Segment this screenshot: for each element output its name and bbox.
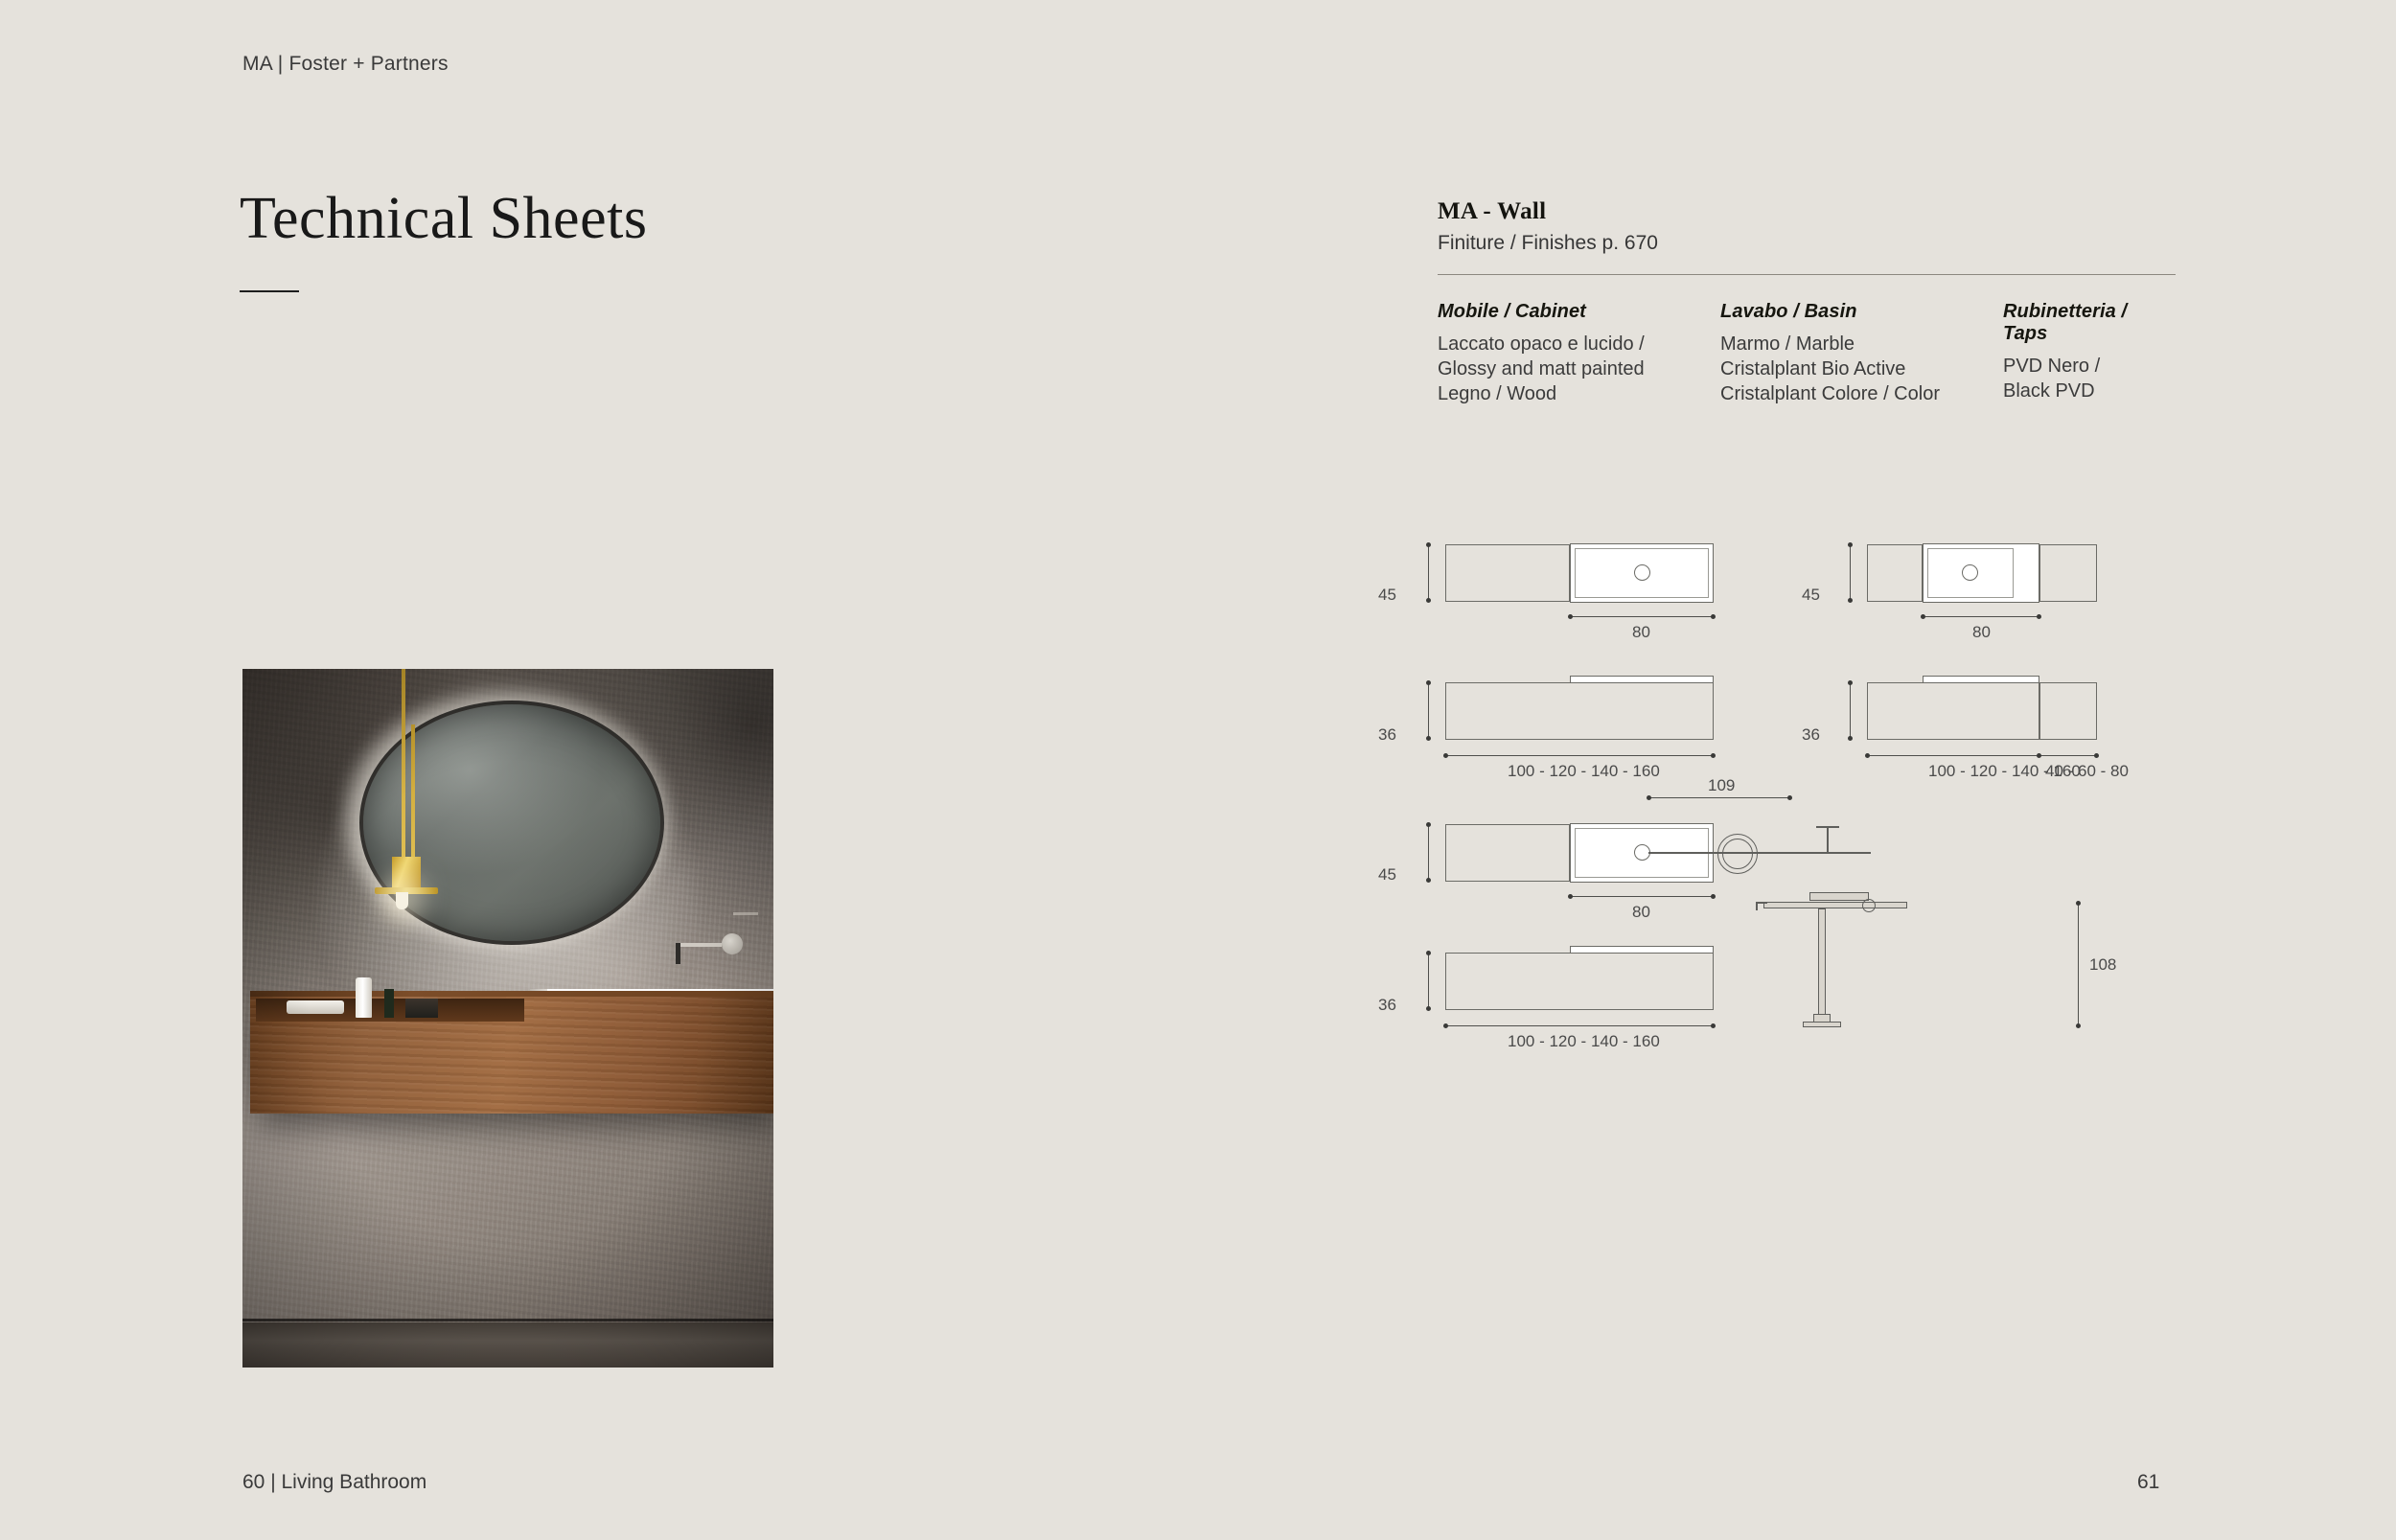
finish-line: Cristalplant Bio Active: [1720, 356, 2003, 381]
dimension-tick: [1426, 736, 1431, 741]
dimension-tick: [1865, 753, 1870, 758]
dimension-tick: [2037, 753, 2041, 758]
page-title: Technical Sheets: [240, 188, 647, 250]
dimension-tick: [1848, 542, 1853, 547]
dimension-depth: 45: [1378, 586, 1396, 605]
finish-heading: Lavabo / Basin: [1720, 301, 2003, 323]
dimension-line-vertical: [1428, 545, 1429, 601]
tap-spout-tip-drop: [1756, 902, 1758, 910]
dimension-line-tap-height: [2078, 904, 2079, 1026]
finish-line: PVD Nero /: [2003, 354, 2176, 379]
cabinet-top-body: [1445, 824, 1570, 882]
cabinet-top-left-module: [1867, 544, 1923, 602]
dimension-line-horizontal: [1570, 896, 1714, 897]
dimension-tick: [1921, 614, 1925, 619]
cabinet-front-main-module: [1867, 682, 2039, 740]
tap-vertical-column: [1818, 908, 1826, 1020]
dimension-line-horizontal: [1570, 616, 1714, 617]
dimension-height: 36: [1378, 725, 1396, 745]
technical-drawings: 45 80 45 80: [1380, 522, 2358, 1193]
dimension-width: 100 - 120 - 140 - 160: [1508, 762, 1660, 781]
dimension-tick: [1568, 614, 1573, 619]
title-block: Technical Sheets: [240, 188, 647, 292]
dimension-tick: [1568, 894, 1573, 899]
finish-heading: Rubinetteria / Taps: [2003, 301, 2176, 345]
dimension-line-vertical: [1428, 683, 1429, 739]
finish-line: Cristalplant Colore / Color: [1720, 381, 2003, 406]
dimension-line-vertical: [1428, 825, 1429, 881]
dimension-line-horizontal: [1445, 1025, 1714, 1026]
dimension-tick: [1426, 822, 1431, 827]
tap-handle-stem: [1827, 827, 1829, 853]
catalog-page: MA | Foster + Partners Technical Sheets: [0, 0, 2396, 1540]
finish-line: Black PVD: [2003, 379, 2176, 403]
dimension-tick: [1711, 894, 1716, 899]
tap-handle-arm: [1756, 852, 1871, 854]
product-photo: [242, 669, 773, 1368]
tap-top-plate: [1809, 892, 1869, 901]
dimension-tick: [1848, 598, 1853, 603]
dimension-tick: [1711, 753, 1716, 758]
dimension-depth: 45: [1802, 586, 1820, 605]
running-head: MA | Foster + Partners: [242, 53, 449, 76]
footer-right-page-number: 61: [2137, 1471, 2159, 1494]
dimension-line-vertical: [1428, 954, 1429, 1009]
finish-line: Laccato opaco e lucido /: [1438, 332, 1720, 356]
tap-column-inner-ring: [1722, 839, 1753, 869]
dimension-tick: [1426, 542, 1431, 547]
basin-drain-icon: [1962, 564, 1978, 581]
dimension-depth: 45: [1378, 865, 1396, 885]
title-rule: [240, 290, 299, 292]
dimension-line-vertical: [1850, 683, 1851, 739]
dimension-tap-reach: 109: [1708, 776, 1735, 795]
dimension-height: 36: [1802, 725, 1820, 745]
finishes-columns: Mobile / Cabinet Laccato opaco e lucido …: [1438, 301, 2176, 406]
dimension-tick: [1711, 1023, 1716, 1028]
dimension-tap-height: 108: [2089, 955, 2116, 975]
dimension-tick: [2076, 901, 2081, 906]
cabinet-top-body: [1445, 544, 1570, 602]
dimension-tick: [1426, 951, 1431, 955]
spec-divider: [1438, 274, 2176, 275]
dimension-tick: [1426, 598, 1431, 603]
dimension-tick: [1787, 795, 1792, 800]
dimension-tick: [1848, 680, 1853, 685]
footer-left: 60 | Living Bathroom: [242, 1471, 426, 1494]
dimension-tick: [1426, 680, 1431, 685]
tap-handle-knob-icon: [1862, 899, 1876, 912]
dimension-line-tap-reach: [1648, 797, 1790, 798]
dimension-width: 80: [1632, 903, 1650, 922]
dimension-line-horizontal: [1867, 755, 2097, 756]
finish-column-cabinet: Mobile / Cabinet Laccato opaco e lucido …: [1438, 301, 1720, 406]
dimension-tick: [2094, 753, 2099, 758]
dimension-tick: [1426, 1006, 1431, 1011]
dimension-tick: [1443, 1023, 1448, 1028]
dimension-width-side: 40 - 60 - 80: [2045, 762, 2129, 781]
basin-drain-icon: [1634, 564, 1650, 581]
dimension-width: 100 - 120 - 140 - 160: [1508, 1032, 1660, 1051]
dimension-tick: [2076, 1023, 2081, 1028]
tap-floor-plate: [1803, 1022, 1841, 1027]
dimension-line-horizontal: [1445, 755, 1714, 756]
dimension-tick: [1848, 736, 1853, 741]
dimension-tick: [1711, 614, 1716, 619]
tap-handle-top: [1816, 826, 1839, 828]
cabinet-front-side-module: [2039, 682, 2097, 740]
tap-spout-horizontal-arm: [1763, 902, 1907, 908]
finish-column-basin: Lavabo / Basin Marmo / Marble Cristalpla…: [1720, 301, 2003, 406]
dimension-width: 80: [1972, 623, 1991, 642]
dimension-tick: [1647, 795, 1651, 800]
dimension-line-horizontal: [1923, 616, 2039, 617]
dimension-width: 80: [1632, 623, 1650, 642]
photo-vignette: [242, 669, 773, 1368]
dimension-tick: [2037, 614, 2041, 619]
dimension-line-vertical: [1850, 545, 1851, 601]
finish-line: Glossy and matt painted: [1438, 356, 1720, 381]
dimension-height: 36: [1378, 996, 1396, 1015]
specification-block: MA - Wall Finiture / Finishes p. 670 Mob…: [1438, 198, 2176, 406]
finish-column-taps: Rubinetteria / Taps PVD Nero / Black PVD: [2003, 301, 2176, 406]
dimension-tick: [1443, 753, 1448, 758]
cabinet-front-body: [1445, 682, 1714, 740]
dimension-tick: [1426, 878, 1431, 883]
product-name: MA - Wall: [1438, 198, 2176, 225]
finish-heading: Mobile / Cabinet: [1438, 301, 1720, 323]
finish-line: Marmo / Marble: [1720, 332, 2003, 356]
finishes-reference: Finiture / Finishes p. 670: [1438, 232, 2176, 255]
finish-line: Legno / Wood: [1438, 381, 1720, 406]
cabinet-front-body: [1445, 953, 1714, 1010]
cabinet-top-right-module: [2039, 544, 2097, 602]
